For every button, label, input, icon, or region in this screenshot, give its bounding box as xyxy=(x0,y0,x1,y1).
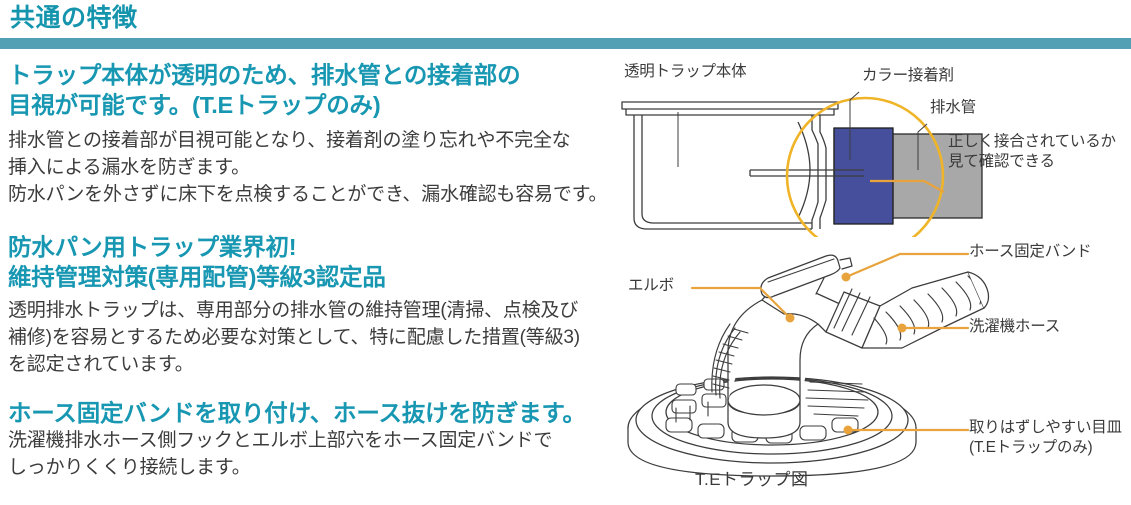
feature-body-3: 洗濯機排水ホース側フックとエルボ上部穴をホース固定バンドで しっかりくくり接続し… xyxy=(8,428,552,482)
diagram-caption: T.Eトラップ図 xyxy=(695,465,809,490)
product-feature-page: 共通の特徴 トラップ本体が透明のため、排水管との接着部の 目視が可能です。(T.… xyxy=(0,0,1131,505)
feature-heading-1: トラップ本体が透明のため、排水管との接着部の 目視が可能です。(T.Eトラップの… xyxy=(8,60,520,120)
feature-body-2: 透明排水トラップは、専用部分の排水管の維持管理(清掃、点検及び 補修)を容易とす… xyxy=(8,298,580,379)
label-elbow: エルボ xyxy=(628,276,674,296)
feature-heading-2: 防水パン用トラップ業界初! 維持管理対策(専用配管)等級3認定品 xyxy=(8,232,386,292)
feature-body-1: 排水管との接着部が目視可能となり、接着剤の塗り忘れや不完全な 挿入による漏水を防… xyxy=(8,128,607,209)
leader-hose-band xyxy=(846,254,968,277)
label-strainer: 取りはずしやすい目皿 (T.Eトラップのみ) xyxy=(969,418,1122,459)
diagram-column: 透明トラップ本体 カラー接着剤 排水管 正しく接合されているか 見て確認できる xyxy=(612,52,1131,505)
feature-text-column: トラップ本体が透明のため、排水管との接着部の 目視が可能です。(T.Eトラップの… xyxy=(0,0,612,505)
leader-dot-strainer xyxy=(844,426,853,435)
label-drain-pipe: 排水管 xyxy=(930,98,976,118)
label-washer-hose: 洗濯機ホース xyxy=(969,317,1060,337)
label-hose-band: ホース固定バンド xyxy=(969,242,1091,262)
feature-heading-3: ホース固定バンドを取り付け、ホース抜けを防ぎます。 xyxy=(8,398,586,428)
leader-dot-elbow xyxy=(786,314,795,323)
leader-dot-hose-band xyxy=(842,273,851,282)
label-color-adhesive: カラー接着剤 xyxy=(862,66,954,86)
label-trap-body: 透明トラップ本体 xyxy=(624,62,746,82)
leader-dot-washer-hose xyxy=(898,324,907,333)
label-check-note: 正しく接合されているか 見て確認できる xyxy=(948,132,1116,173)
